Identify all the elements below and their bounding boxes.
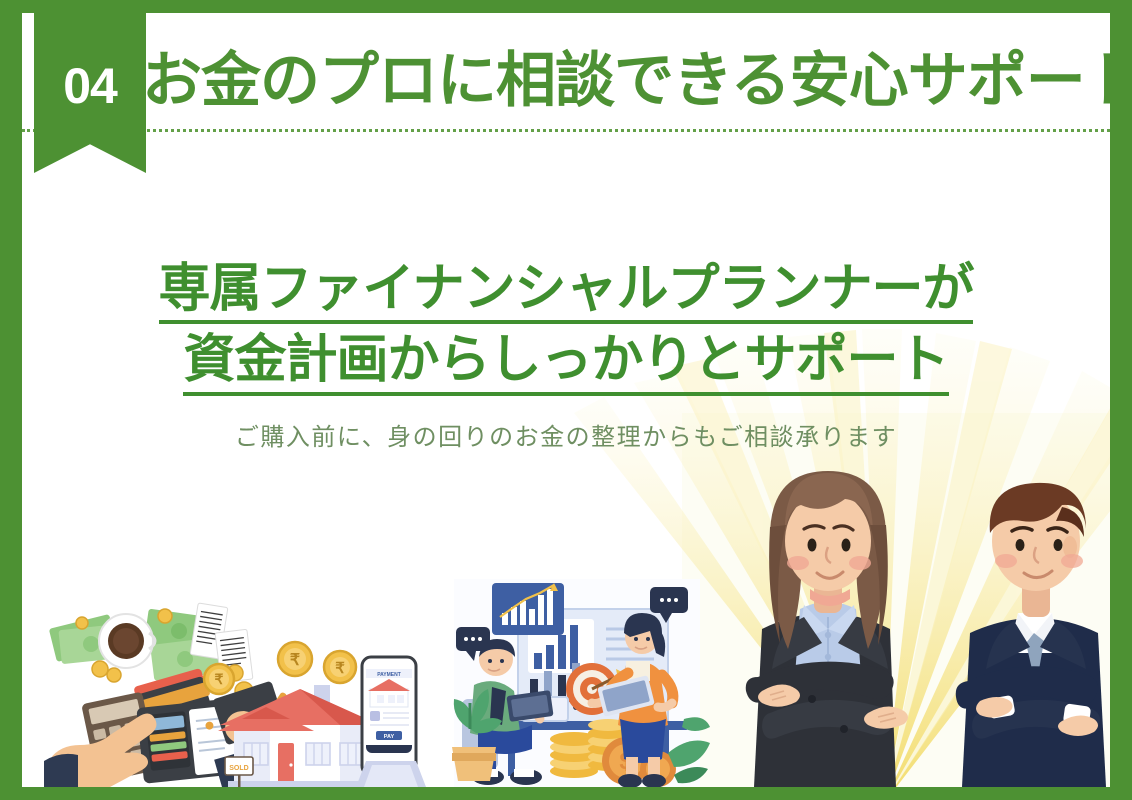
headline-line-2: 資金計画からしっかりとサポート bbox=[183, 330, 948, 395]
subheadline-text: ご購入前に、身の回りのお金の整理からもご相談承ります bbox=[22, 417, 1110, 452]
headline-line-1: 専属ファイナンシャルプランナーが bbox=[159, 259, 974, 324]
svg-text:₹: ₹ bbox=[290, 652, 300, 669]
slide-canvas: ₹ ₹ ₹ bbox=[0, 0, 1132, 800]
svg-text:₹: ₹ bbox=[215, 671, 224, 687]
slide-inner-area: ₹ ₹ ₹ bbox=[22, 13, 1110, 787]
svg-text:₹: ₹ bbox=[335, 660, 345, 677]
svg-text:PAYMENT: PAYMENT bbox=[377, 672, 401, 678]
svg-text:PAY: PAY bbox=[384, 734, 395, 740]
business-analytics-illustration: $ bbox=[452, 579, 710, 787]
headline-block: 専属ファイナンシャルプランナーが 資金計画からしっかりとサポート bbox=[22, 259, 1110, 402]
mobile-payment-phone: PAYMENT bbox=[356, 657, 426, 787]
svg-text:SOLD: SOLD bbox=[229, 765, 248, 772]
